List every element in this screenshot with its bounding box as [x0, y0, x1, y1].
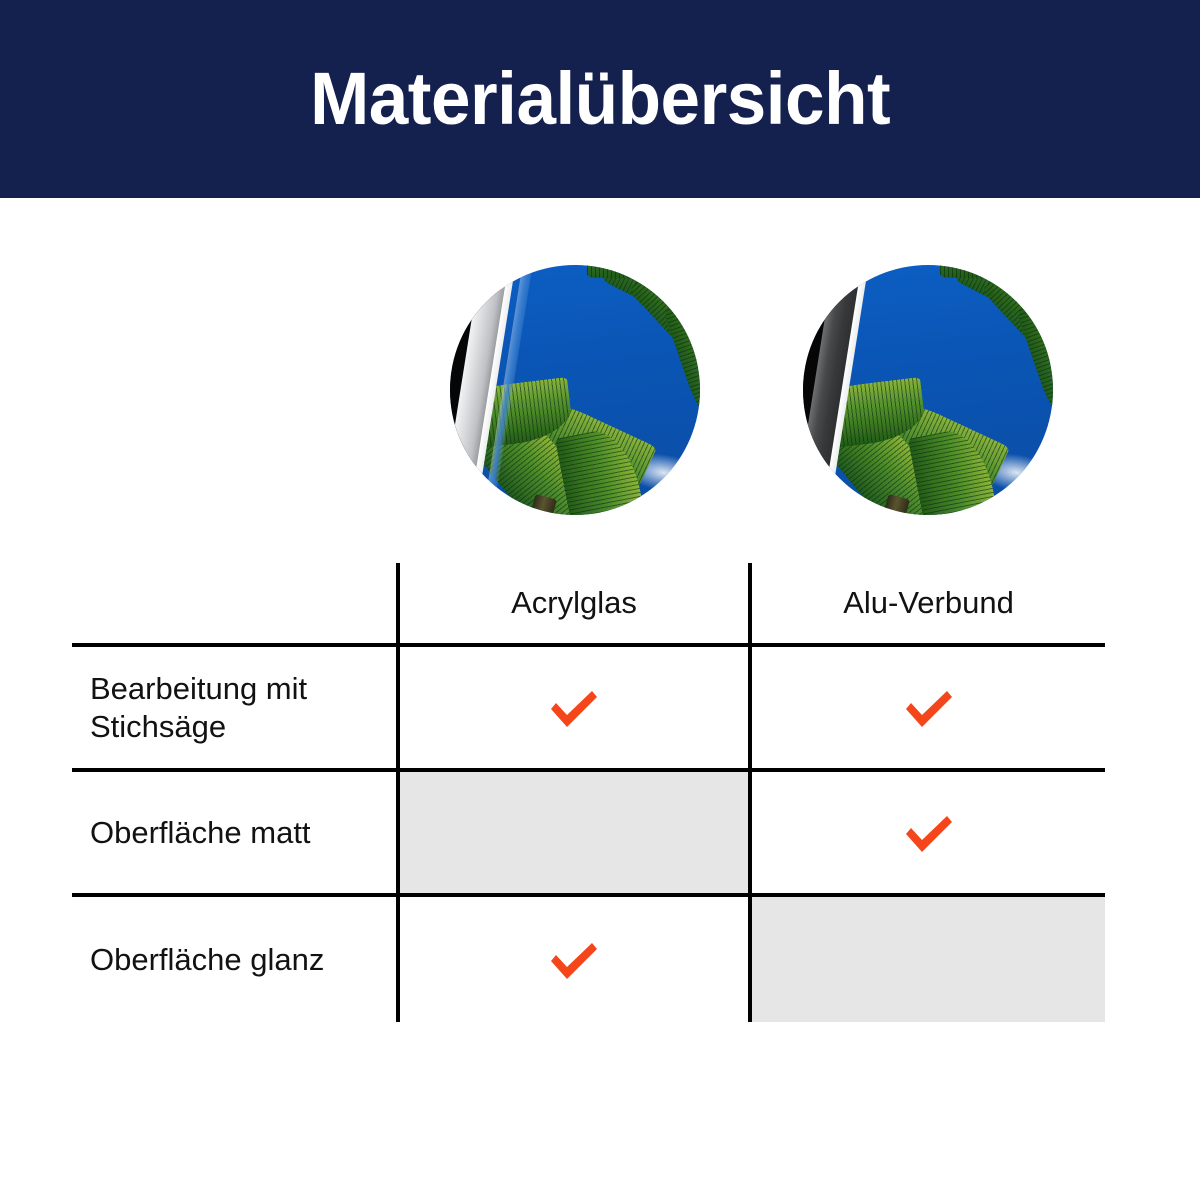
check-icon	[902, 812, 956, 854]
cell-bearbeitung-alu-verbund	[750, 645, 1105, 770]
preview-image-acrylglas	[450, 265, 700, 515]
table-row: Bearbeitung mit Stichsäge	[72, 645, 1105, 770]
table-corner-cell	[72, 563, 398, 645]
preview-image-alu-verbund	[803, 265, 1053, 515]
check-icon	[547, 939, 601, 981]
check-icon	[902, 687, 956, 729]
column-header-alu-verbund: Alu-Verbund	[750, 563, 1105, 645]
row-label-oberflaeche-matt: Oberfläche matt	[72, 770, 398, 895]
table-row: Oberfläche matt	[72, 770, 1105, 895]
row-label-oberflaeche-glanz: Oberfläche glanz	[72, 895, 398, 1022]
table-header-row: Acrylglas Alu-Verbund	[72, 563, 1105, 645]
row-label-line-2: Stichsäge	[90, 708, 386, 746]
cell-glanz-alu-verbund	[750, 895, 1105, 1022]
page-title: Materialübersicht	[310, 62, 890, 136]
cell-matt-alu-verbund	[750, 770, 1105, 895]
acrylglas-artwork	[450, 265, 700, 515]
row-label-line-1: Oberfläche glanz	[90, 941, 386, 979]
row-label-line-1: Oberfläche matt	[90, 814, 386, 852]
header-banner: Materialübersicht	[0, 0, 1200, 198]
check-icon	[547, 687, 601, 729]
row-label-bearbeitung-stichsaege: Bearbeitung mit Stichsäge	[72, 645, 398, 770]
column-header-acrylglas: Acrylglas	[398, 563, 750, 645]
material-comparison-table: Acrylglas Alu-Verbund Bearbeitung mit St…	[72, 563, 1105, 1010]
material-overview-page: Materialübersicht	[0, 0, 1200, 1200]
table-row: Oberfläche glanz	[72, 895, 1105, 1022]
row-label-line-1: Bearbeitung mit	[90, 670, 386, 708]
alu-verbund-artwork	[803, 265, 1053, 515]
product-preview-row	[0, 265, 1200, 517]
cell-matt-acrylglas	[398, 770, 750, 895]
cell-glanz-acrylglas	[398, 895, 750, 1022]
cell-bearbeitung-acrylglas	[398, 645, 750, 770]
